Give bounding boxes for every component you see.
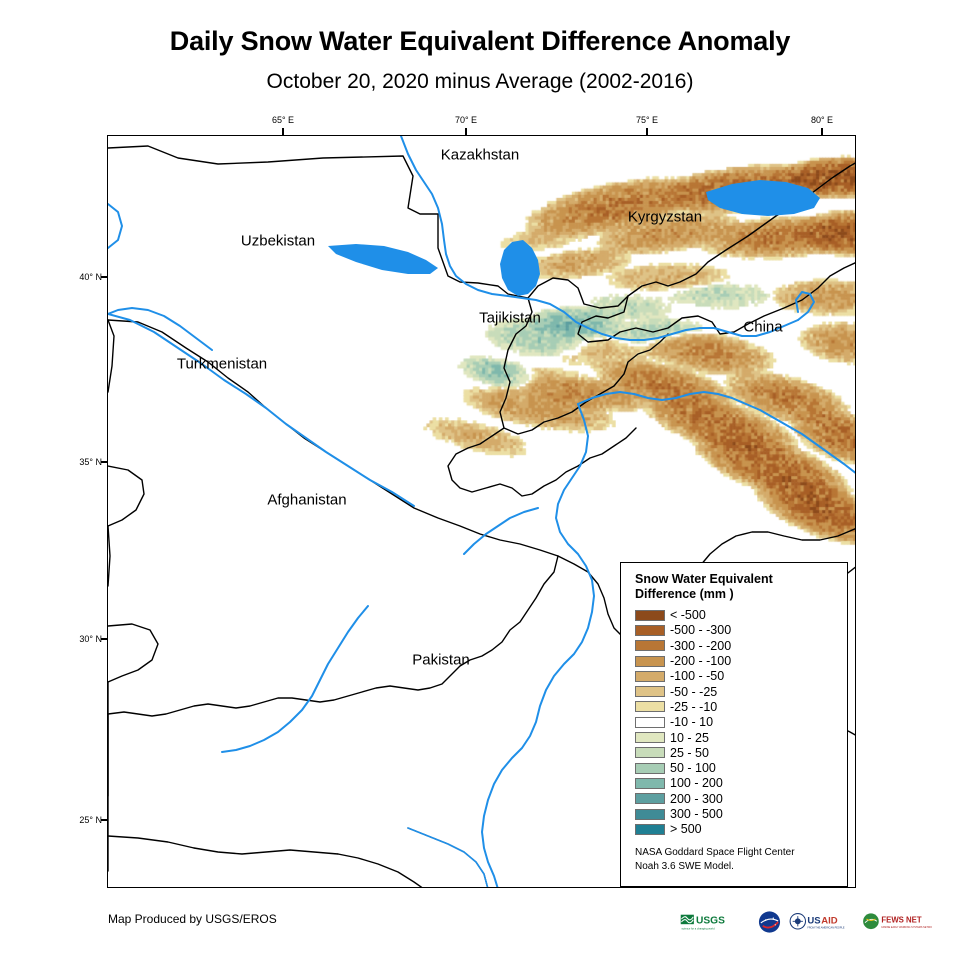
legend-row: 200 - 300 <box>635 791 837 806</box>
lat-label-40: 40° N <box>72 272 102 282</box>
legend-credit: NASA Goddard Space Flight Center Noah 3.… <box>635 846 837 875</box>
lat-label-30: 30° N <box>72 634 102 644</box>
legend-label: -10 - 10 <box>670 715 713 729</box>
fewsnet-logo: FEWS NET FAMINE EARLY WARNING SYSTEMS NE… <box>862 909 932 935</box>
lon-tick-70 <box>465 128 467 135</box>
legend-swatch <box>635 732 665 743</box>
legend-label: > 500 <box>670 822 702 836</box>
page-title: Daily Snow Water Equivalent Difference A… <box>0 26 960 57</box>
legend-row: < -500 <box>635 608 837 623</box>
legend-row: -500 - -300 <box>635 623 837 638</box>
legend-label: -500 - -300 <box>670 623 731 637</box>
legend-label: -50 - -25 <box>670 685 717 699</box>
lon-label-80: 80° E <box>811 115 833 125</box>
legend-row: -50 - -25 <box>635 684 837 699</box>
legend-swatch <box>635 701 665 712</box>
map-producer-text: Map Produced by USGS/EROS <box>108 912 277 926</box>
legend-label: 100 - 200 <box>670 776 723 790</box>
svg-text:AID: AID <box>821 915 838 926</box>
legend-class-list: < -500-500 - -300-300 - -200-200 - -100-… <box>635 608 837 837</box>
legend-swatch <box>635 610 665 621</box>
legend-row: -300 - -200 <box>635 638 837 653</box>
lon-tick-80 <box>821 128 823 135</box>
legend-row: 10 - 25 <box>635 730 837 745</box>
legend-label: 10 - 25 <box>670 731 709 745</box>
legend-label: 50 - 100 <box>670 761 716 775</box>
legend-label: -25 - -10 <box>670 700 717 714</box>
legend-swatch <box>635 717 665 728</box>
legend-label: 200 - 300 <box>670 792 723 806</box>
lon-label-65: 65° E <box>272 115 294 125</box>
lon-label-70: 70° E <box>455 115 477 125</box>
legend-row: 25 - 50 <box>635 745 837 760</box>
legend-title: Snow Water Equivalent Difference (mm ) <box>635 572 837 603</box>
svg-text:USGS: USGS <box>696 915 725 926</box>
svg-text:US: US <box>807 915 820 926</box>
lon-tick-75 <box>646 128 648 135</box>
lat-label-25: 25° N <box>72 815 102 825</box>
legend-swatch <box>635 625 665 636</box>
map-legend: Snow Water Equivalent Difference (mm ) <… <box>620 562 848 887</box>
legend-row: -25 - -10 <box>635 699 837 714</box>
legend-swatch <box>635 686 665 697</box>
legend-label: 300 - 500 <box>670 807 723 821</box>
legend-swatch <box>635 747 665 758</box>
svg-text:science for a changing world: science for a changing world <box>681 926 715 930</box>
legend-swatch <box>635 763 665 774</box>
legend-label: 25 - 50 <box>670 746 709 760</box>
legend-swatch <box>635 671 665 682</box>
legend-swatch <box>635 809 665 820</box>
nasa-logo <box>757 909 782 935</box>
usaid-logo: US AID FROM THE AMERICAN PEOPLE <box>789 909 855 935</box>
legend-row: > 500 <box>635 822 837 837</box>
legend-label: < -500 <box>670 608 706 622</box>
legend-label: -100 - -50 <box>670 669 724 683</box>
legend-row: -200 - -100 <box>635 653 837 668</box>
lon-label-75: 75° E <box>636 115 658 125</box>
legend-swatch <box>635 656 665 667</box>
usgs-logo: USGS science for a changing world <box>680 909 750 935</box>
legend-row: -10 - 10 <box>635 715 837 730</box>
legend-swatch <box>635 824 665 835</box>
legend-row: 100 - 200 <box>635 776 837 791</box>
legend-label: -300 - -200 <box>670 639 731 653</box>
legend-row: 50 - 100 <box>635 760 837 775</box>
svg-text:FEWS NET: FEWS NET <box>881 916 922 925</box>
agency-logos: USGS science for a changing world US AID… <box>680 908 932 936</box>
page-subtitle: October 20, 2020 minus Average (2002-201… <box>0 70 960 94</box>
legend-row: -100 - -50 <box>635 669 837 684</box>
legend-swatch <box>635 640 665 651</box>
legend-row: 300 - 500 <box>635 806 837 821</box>
lat-label-35: 35° N <box>72 457 102 467</box>
legend-label: -200 - -100 <box>670 654 731 668</box>
legend-swatch <box>635 778 665 789</box>
svg-text:FROM THE AMERICAN PEOPLE: FROM THE AMERICAN PEOPLE <box>807 927 845 930</box>
svg-text:FAMINE EARLY WARNING SYSTEMS N: FAMINE EARLY WARNING SYSTEMS NETWORK <box>881 926 932 929</box>
lon-tick-65 <box>282 128 284 135</box>
legend-swatch <box>635 793 665 804</box>
